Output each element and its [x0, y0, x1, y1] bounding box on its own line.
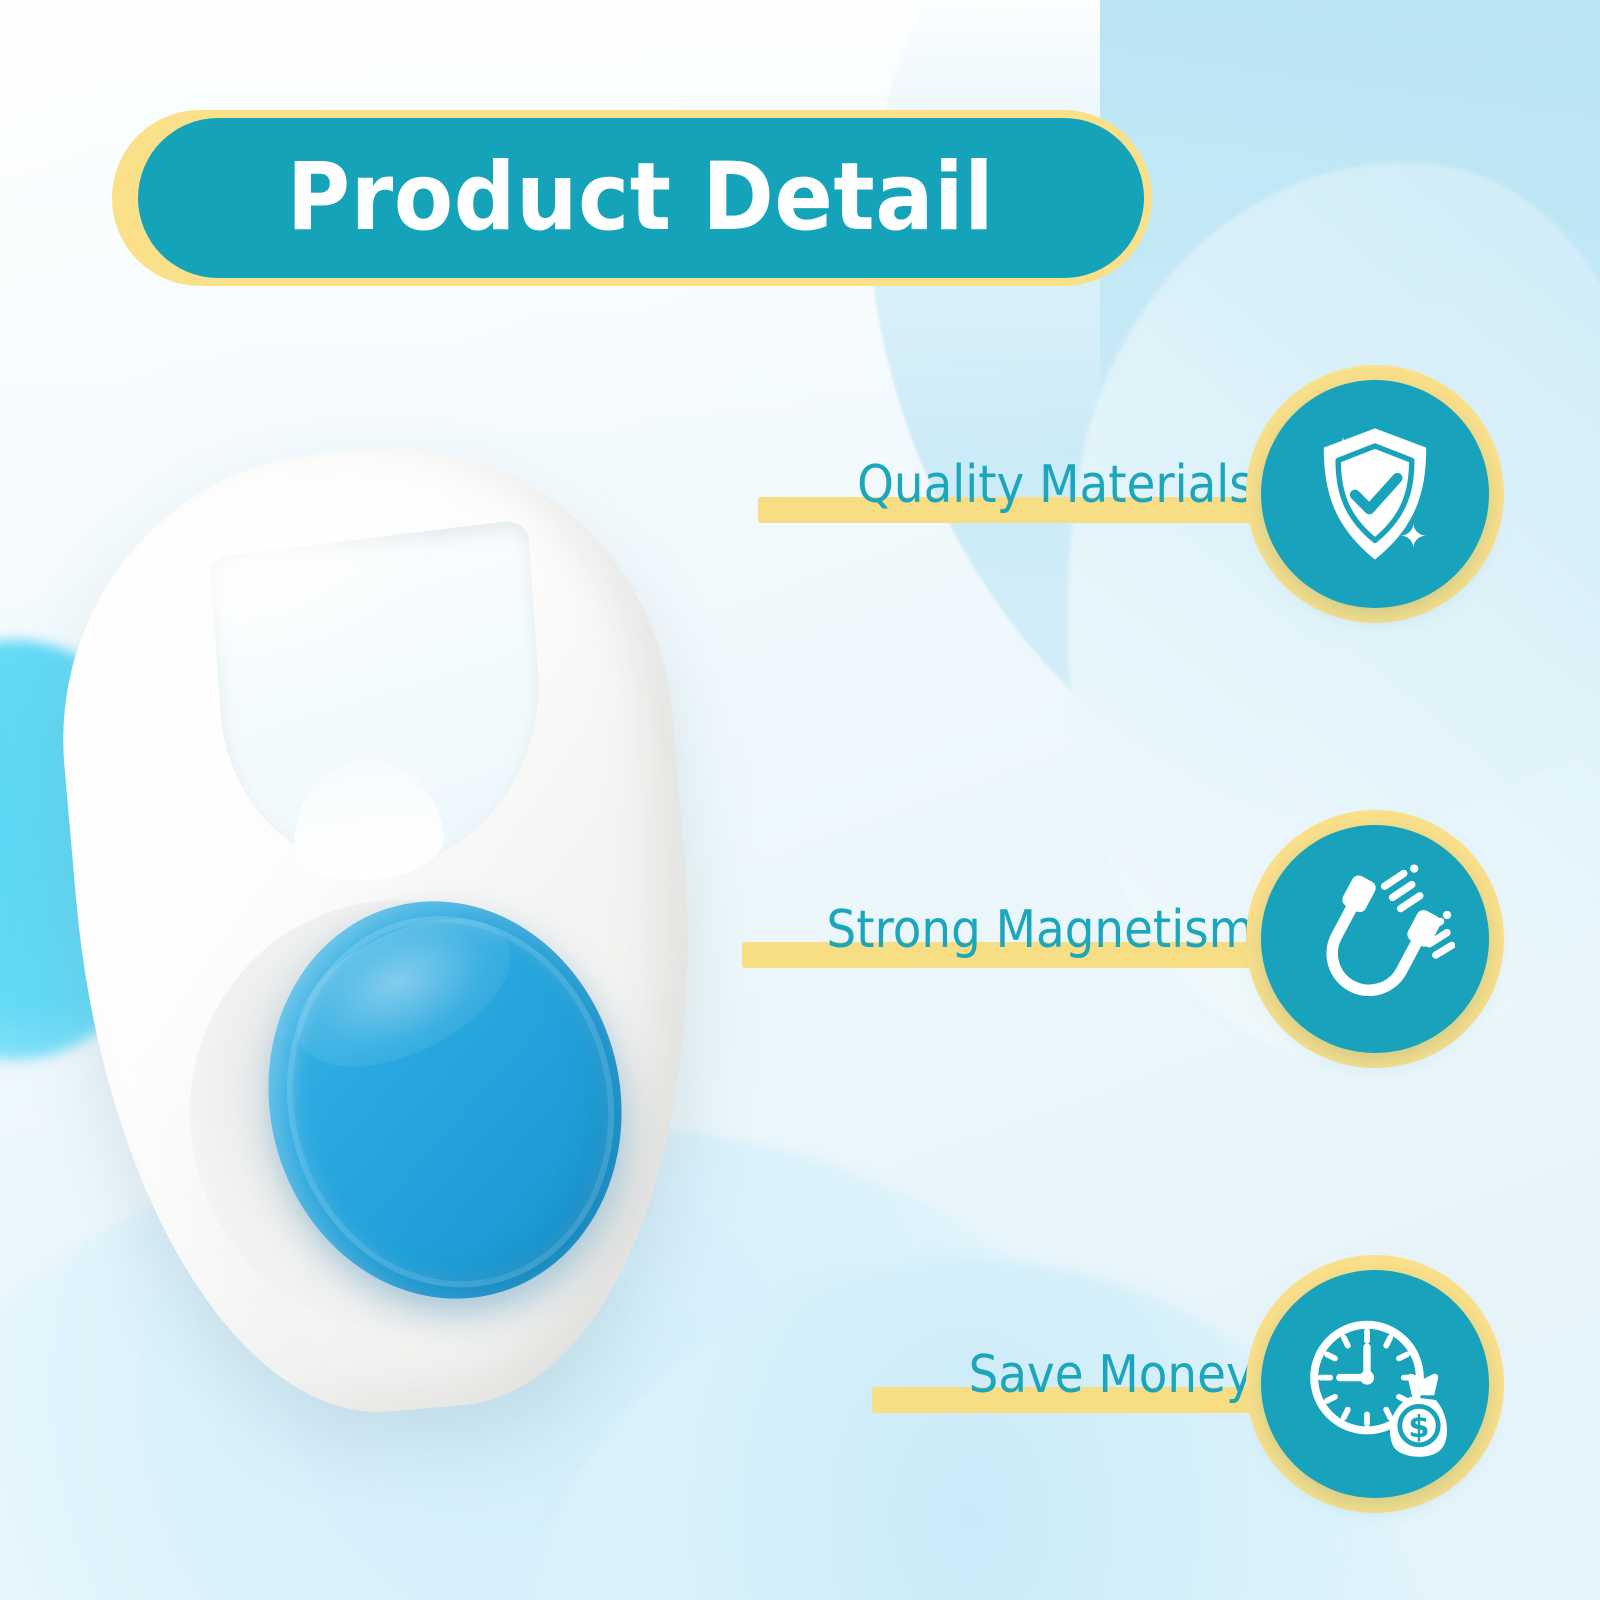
feature-item-quality-materials: Quality Materials — [758, 365, 1504, 623]
page-title-banner: Product Detail — [112, 110, 1152, 286]
page-title: Product Detail — [287, 151, 994, 245]
product-photo — [70, 430, 720, 1440]
feature-item-save-money: Save Money — [872, 1255, 1504, 1513]
feature-item-strong-magnetism: Strong Magnetism — [742, 810, 1504, 1068]
feature-label-group: Quality Materials — [758, 365, 1268, 623]
infographic-canvas: Product Detail Quality Materials — [0, 0, 1600, 1600]
horseshoe-magnet-icon — [1295, 859, 1455, 1019]
feature-label-group: Save Money — [872, 1255, 1268, 1513]
feature-label-group: Strong Magnetism — [742, 810, 1268, 1068]
title-teal-pill: Product Detail — [138, 118, 1144, 278]
feature-badge — [1246, 810, 1504, 1068]
feature-badge — [1246, 365, 1504, 623]
feature-label: Strong Magnetism — [826, 904, 1254, 968]
feature-label: Save Money — [969, 1349, 1254, 1413]
feature-badge-inner: $ — [1261, 1270, 1489, 1498]
feature-badge-inner — [1261, 825, 1489, 1053]
feature-badge: $ — [1246, 1255, 1504, 1513]
feature-badge-inner — [1261, 380, 1489, 608]
feature-label: Quality Materials — [857, 459, 1254, 523]
clock-money-bag-icon: $ — [1295, 1304, 1455, 1464]
shield-check-icon — [1295, 414, 1455, 574]
svg-text:$: $ — [1408, 1410, 1429, 1445]
